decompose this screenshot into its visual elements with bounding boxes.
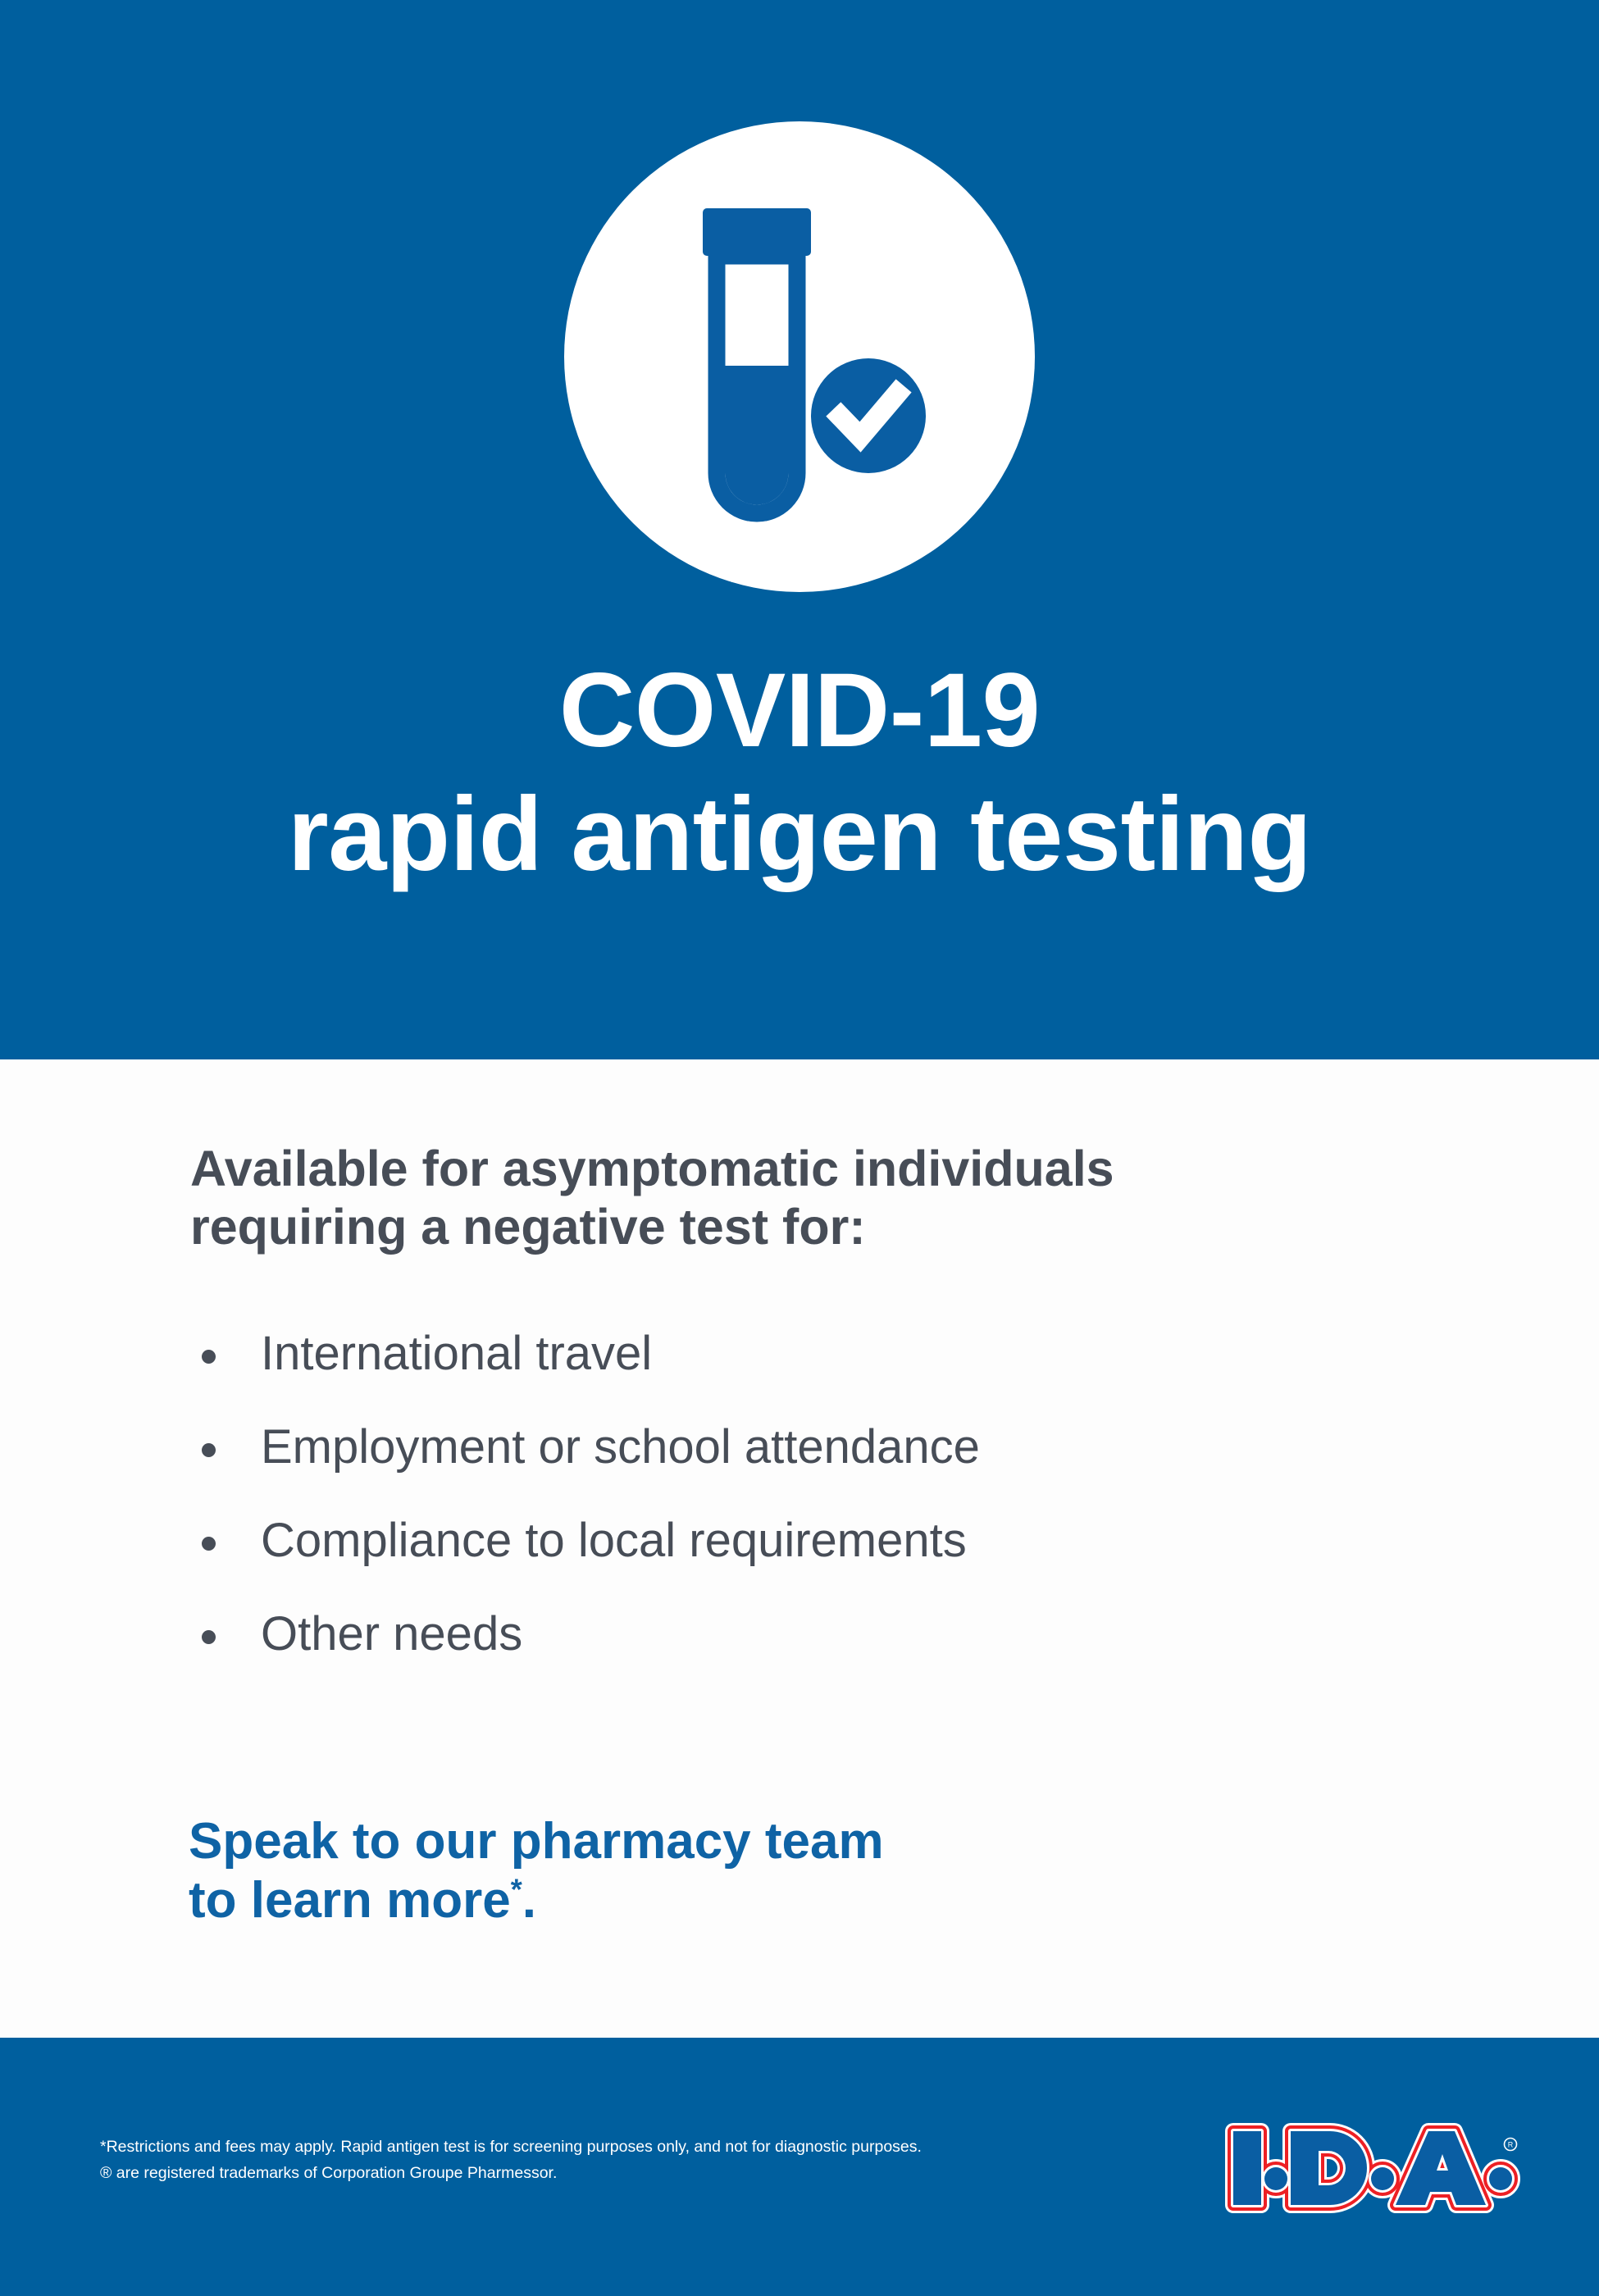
- bullet-icon: [202, 1630, 216, 1644]
- ida-pharmacy-logo: R: [1222, 2118, 1533, 2225]
- list-item-label: Other needs: [261, 1607, 522, 1660]
- list-item: International travel: [190, 1330, 1502, 1378]
- header-band: COVID-19 rapid antigen testing: [0, 0, 1599, 1059]
- call-to-action: Speak to our pharmacy team to learn more…: [189, 1812, 1419, 1930]
- list-item-label: Compliance to local requirements: [261, 1514, 967, 1567]
- subheading: Available for asymptomatic individuals r…: [190, 1140, 1469, 1256]
- page-title-line-2: rapid antigen testing: [0, 780, 1599, 889]
- poster-root: COVID-19 rapid antigen testing Available…: [0, 0, 1599, 2296]
- list-item: Compliance to local requirements: [190, 1517, 1502, 1565]
- cta-line-2: to learn more*.: [189, 1871, 1419, 1930]
- cta-line-1: Speak to our pharmacy team: [189, 1812, 1419, 1871]
- bullet-icon: [202, 1443, 216, 1457]
- list-item-label: International travel: [261, 1327, 652, 1380]
- subheading-line-1: Available for asymptomatic individuals: [190, 1140, 1469, 1198]
- test-tube-with-checkmark-icon: [564, 121, 1035, 592]
- disclaimer-text: *Restrictions and fees may apply. Rapid …: [100, 2134, 928, 2186]
- bullet-icon: [202, 1350, 216, 1364]
- page-title-line-1: COVID-19: [0, 656, 1599, 765]
- list-item-label: Employment or school attendance: [261, 1420, 980, 1474]
- list-item: Other needs: [190, 1610, 1502, 1658]
- disclaimer-line-1: *Restrictions and fees may apply. Rapid …: [100, 2138, 847, 2156]
- cta-period: .: [522, 1872, 536, 1929]
- eligibility-list: International travel Employment or schoo…: [190, 1330, 1502, 1704]
- cta-footnote-marker: *: [511, 1872, 522, 1906]
- bullet-icon: [202, 1537, 216, 1551]
- main-content: Available for asymptomatic individuals r…: [0, 1059, 1599, 2038]
- subheading-line-2: requiring a negative test for:: [190, 1198, 1469, 1256]
- page-title: COVID-19 rapid antigen testing: [0, 656, 1599, 889]
- svg-text:R: R: [1508, 2141, 1514, 2149]
- cta-line-2-text: to learn more: [189, 1872, 511, 1929]
- list-item: Employment or school attendance: [190, 1424, 1502, 1471]
